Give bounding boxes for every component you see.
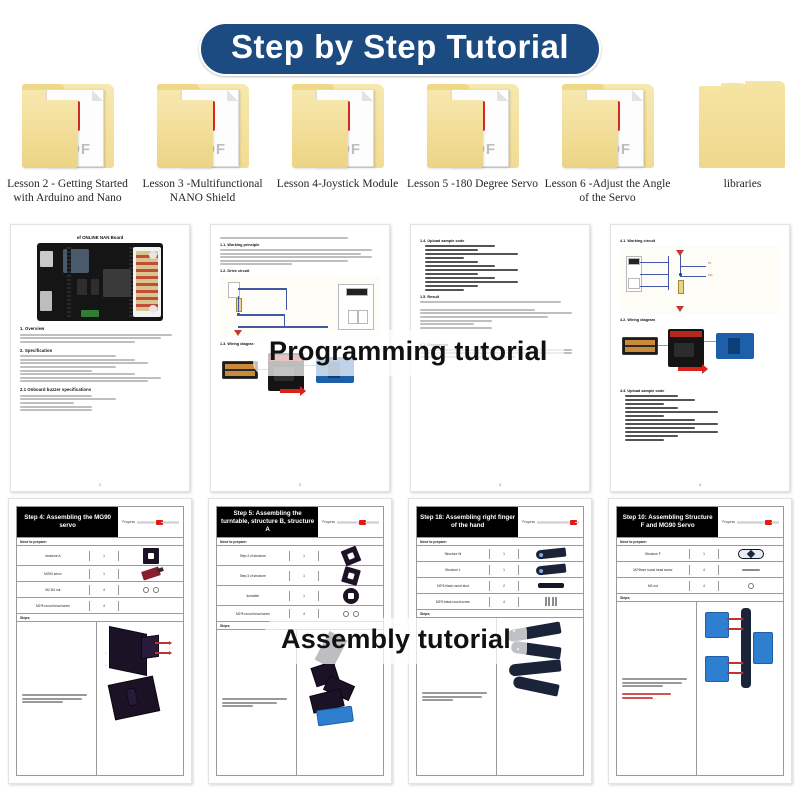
part-qty: 4 (689, 565, 720, 575)
section-heading: 2.1 Onboard buzzer specifications (20, 387, 180, 392)
part-name: Structure F (617, 549, 689, 559)
part-qty: 1 (489, 549, 520, 559)
progress-indicator: Progress (318, 507, 383, 537)
parts-table: Structure F 1 M2*8mm round head screw 4 … (617, 546, 783, 594)
section-heading: 1.1. Working principle (220, 243, 380, 247)
working-circuit-schematic: 5V SIG (620, 246, 780, 314)
part-qty: 1 (89, 569, 120, 579)
plate-part-icon (319, 566, 383, 585)
table-row: Structure F 1 (617, 546, 783, 562)
nano-shield-board-photo (37, 243, 163, 321)
parts-heading: Need to prepare: (417, 538, 583, 546)
parts-table: structure A 1 MG90 servo 1 M2 M4 nut 4 (17, 546, 183, 614)
parts-heading: Need to prepare: (217, 538, 383, 546)
part-qty: 1 (689, 549, 720, 559)
part-name: M2*5 black round screw (417, 597, 489, 607)
tutorial-poster: Step by Step Tutorial ᵀ PDF Lesson 2 - G… (0, 0, 800, 800)
table-row: M2*5 black round stud 2 (417, 578, 583, 594)
part-name: Step 3 of structure (217, 571, 289, 581)
folder-label: Lesson 4-Joystick Module (270, 178, 405, 192)
part-name: MG90 servo (17, 569, 89, 579)
assembly-tutorial-caption: Assembly tutorial (265, 618, 527, 664)
section-heading: 2. Specification (20, 348, 180, 353)
part-qty: 4 (689, 581, 720, 591)
part-name: M2*8 round head screw (217, 609, 289, 619)
code-listing (420, 245, 580, 291)
steps-heading: Steps: (417, 610, 583, 618)
table-row: Structure L 1 (417, 562, 583, 578)
page-number: 2 (211, 482, 389, 487)
table-row: M2 nut 4 (617, 578, 783, 593)
nut-part-icon (119, 582, 183, 597)
part-qty: 1 (289, 571, 320, 581)
section-heading: 4.1. Working circuit (620, 239, 780, 243)
table-row: M2*8mm round head screw 4 (617, 562, 783, 578)
link-part-icon (719, 546, 783, 561)
plate-part-icon (319, 546, 383, 565)
page-number: 3 (411, 482, 589, 487)
folder-label: Lesson 5 -180 Degree Servo (405, 178, 540, 192)
pdf-folder-icon: ᵀ PDF (151, 78, 255, 174)
folder-row: ᵀ PDF Lesson 2 - Getting Started with Ar… (0, 78, 800, 218)
page-title: Step by Step Tutorial (199, 22, 601, 76)
part-name: M2 nut (617, 581, 689, 591)
steps-heading: Steps: (17, 614, 183, 622)
stud-part-icon (519, 578, 583, 593)
progress-indicator: Progress (718, 507, 783, 537)
assembly-note (22, 692, 91, 704)
assembly-note (422, 690, 491, 702)
page-number: 4 (611, 482, 789, 487)
part-name: turntable (217, 591, 289, 601)
parts-table: Step 4 of structure 1 Step 3 of structur… (217, 546, 383, 622)
screw-part-icon (119, 598, 183, 613)
part-qty: 4 (89, 585, 120, 595)
table-row: M2*5 black round screw 4 (417, 594, 583, 609)
document-page-nano-shield[interactable]: of ONLINE NAN Board 1. Overview 2. (10, 224, 190, 492)
title-banner-wrap: Step by Step Tutorial (0, 22, 800, 76)
folder-item-lesson-6[interactable]: ᵀ PDF Lesson 6 -Adjust the Angle of the … (540, 78, 675, 218)
folder-label: Lesson 3 -Multifunctional NANO Shield (135, 178, 270, 205)
table-row: turntable 1 (217, 586, 383, 606)
progress-indicator: Progress (518, 507, 583, 537)
part-name: M2*8 round head screw (17, 601, 89, 611)
page-number: 1 (11, 482, 189, 487)
parts-table: Structure W 1 Structure L 1 M2*5 black r… (417, 546, 583, 610)
table-row: MG90 servo 1 (17, 566, 183, 582)
part-qty: 1 (89, 551, 120, 561)
turntable-part-icon (319, 586, 383, 605)
pdf-folder-icon: ᵀ PDF (556, 78, 660, 174)
plate-part-icon (119, 546, 183, 565)
part-name: structure A (17, 551, 89, 561)
assembly-step-title: Step 10: Assembling Structure F and MG90… (617, 507, 718, 537)
part-name: Structure L (417, 565, 489, 575)
table-row: M2*8 round head screw 4 (17, 598, 183, 613)
section-heading: 1. Overview (20, 326, 180, 331)
assembly-note (622, 677, 691, 701)
section-heading: 1.5. Result (420, 295, 580, 299)
exploded-view-art (697, 602, 783, 775)
assembly-page-step-4[interactable]: Step 4: Assembling the MG90 servo Progre… (8, 498, 192, 784)
pdf-folder-icon: ᵀ PDF (16, 78, 120, 174)
assembly-note (222, 696, 291, 708)
folder-label: libraries (675, 178, 800, 192)
folder-label: Lesson 6 -Adjust the Angle of the Servo (540, 178, 675, 205)
finger-part-icon (519, 562, 583, 577)
section-heading: 4.2. Wiring diagram (620, 318, 780, 322)
file-folder-stack-icon (691, 78, 795, 174)
progress-indicator: Progress (118, 507, 183, 537)
section-heading: 1.2. Drive circuit (220, 269, 380, 273)
servo-part-icon (119, 566, 183, 581)
pdf-folder-icon: ᵀ PDF (421, 78, 525, 174)
wiring-diagram-photo (620, 325, 780, 377)
table-row: structure A 1 (17, 546, 183, 566)
table-row: M2 M4 nut 4 (17, 582, 183, 598)
part-name: Step 4 of structure (217, 551, 289, 561)
exploded-view-art (97, 622, 183, 775)
screw-part-icon (719, 562, 783, 577)
assembly-page-step-10[interactable]: Step 10: Assembling Structure F and MG90… (608, 498, 792, 784)
folder-item-lesson-3[interactable]: ᵀ PDF Lesson 3 -Multifunctional NANO Shi… (135, 78, 270, 218)
part-name: M2*5 black round stud (417, 581, 489, 591)
folder-label: Lesson 2 - Getting Started with Arduino … (0, 178, 135, 205)
progress-label: Progress (722, 520, 735, 524)
progress-label: Progress (122, 520, 135, 524)
finger-part-icon (519, 546, 583, 561)
part-qty: 4 (489, 597, 520, 607)
section-heading: 4.3. Upload sample code (620, 389, 780, 393)
table-row: Structure W 1 (417, 546, 583, 562)
progress-label: Progress (522, 520, 535, 524)
assembly-step-title: Step 4: Assembling the MG90 servo (17, 507, 118, 537)
assembly-step-title: Step 5: Assembling the turntable, struct… (217, 507, 318, 537)
part-qty: 1 (289, 551, 320, 561)
code-listing (620, 395, 780, 441)
parts-heading: Need to prepare: (17, 538, 183, 546)
table-row: Step 3 of structure 1 (217, 566, 383, 586)
section-heading: 1.4. Upload sample code (420, 239, 580, 243)
part-qty: 4 (89, 601, 120, 611)
progress-label: Progress (322, 520, 335, 524)
folder-item-lesson-5[interactable]: ᵀ PDF Lesson 5 -180 Degree Servo (405, 78, 540, 218)
nut-part-icon (719, 578, 783, 593)
part-qty: 4 (289, 609, 320, 619)
pdf-folder-icon: ᵀ PDF (286, 78, 390, 174)
screw-part-icon (519, 594, 583, 609)
folder-item-lesson-4[interactable]: ᵀ PDF Lesson 4-Joystick Module (270, 78, 405, 218)
part-name: M2 M4 nut (17, 585, 89, 595)
assembly-step-title: Step 18: Assembling right finger of the … (417, 507, 518, 537)
part-qty: 2 (489, 581, 520, 591)
folder-item-lesson-2[interactable]: ᵀ PDF Lesson 2 - Getting Started with Ar… (0, 78, 135, 218)
table-row: Step 4 of structure 1 (217, 546, 383, 566)
document-page-servo-wiring[interactable]: 4.1. Working circuit 5V (610, 224, 790, 492)
parts-heading: Need to prepare: (617, 538, 783, 546)
part-qty: 1 (289, 591, 320, 601)
steps-heading: Steps: (617, 594, 783, 602)
part-name: M2*8mm round head screw (617, 565, 689, 575)
part-name: Structure W (417, 549, 489, 559)
folder-item-libraries[interactable]: libraries (675, 78, 800, 218)
programming-tutorial-caption: Programming tutorial (253, 330, 564, 376)
board-photo-caption: of ONLINE NAN Board (20, 235, 180, 240)
part-qty: 1 (489, 565, 520, 575)
